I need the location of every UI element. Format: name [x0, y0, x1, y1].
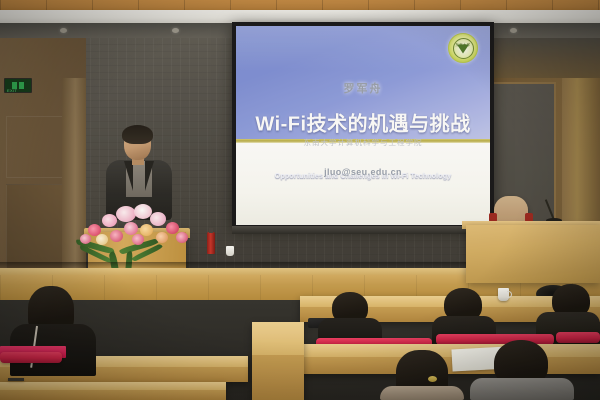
flower-bouquet	[72, 198, 200, 260]
desk-row-left-front	[0, 382, 226, 400]
seat-cushion	[0, 352, 62, 363]
audience-torso	[470, 378, 574, 400]
audience-cup	[498, 288, 509, 301]
slide-surface: 东南大学 Wi-Fi技术的机遇与挑战 Opportunities and Cha…	[236, 26, 490, 225]
slide-speaker-name: 罗军舟	[236, 80, 490, 96]
audience-torso	[380, 386, 464, 400]
hair-clip	[428, 376, 437, 382]
slide-speaker-organization: 东南大学计算机科学与工程学院	[236, 137, 490, 148]
head-table	[466, 225, 600, 283]
fire-extinguisher	[207, 232, 215, 254]
stage-paper-cup	[226, 246, 234, 256]
exit-sign-icon: EXIT	[4, 78, 32, 93]
university-seal-icon: 东南大学	[448, 33, 478, 63]
projection-screen: 东南大学 Wi-Fi技术的机遇与挑战 Opportunities and Cha…	[232, 22, 494, 229]
desk-pen	[8, 378, 24, 381]
exit-sign-label: EXIT	[7, 88, 17, 93]
lecture-hall-photo: EXIT 东南大学 Wi-Fi技术的机遇与挑战 Opportunities an…	[0, 0, 600, 400]
slide-title: Wi-Fi技术的机遇与挑战	[236, 107, 490, 136]
screen-bottom-housing	[232, 226, 494, 234]
seat-cushion	[556, 332, 600, 343]
slide-speaker-email: jluo@seu.edu.cn	[236, 167, 490, 177]
desk-block-right	[252, 322, 304, 400]
slide-lower-panel	[236, 143, 490, 225]
